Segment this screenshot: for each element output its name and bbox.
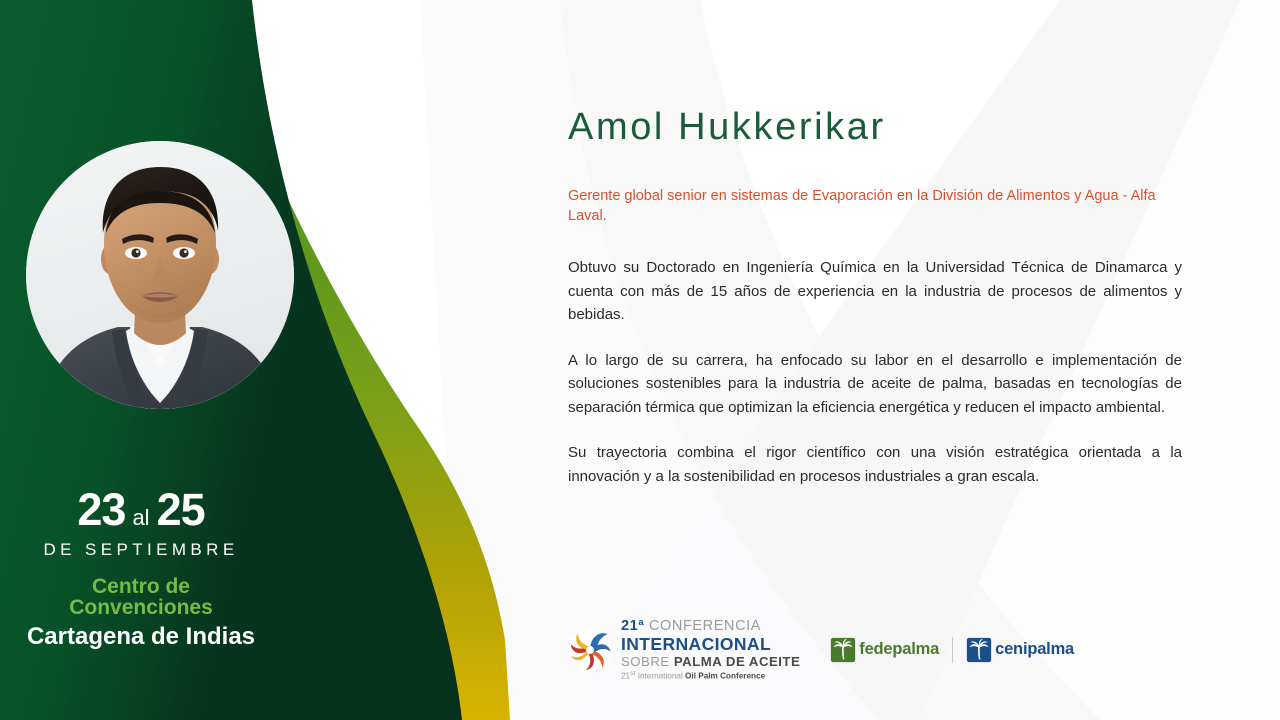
speaker-portrait [26,141,294,409]
palm-tree-icon [966,637,992,663]
speaker-slide: 23 al 25 DE SEPTIEMBRE Centro de Convenc… [0,0,1280,720]
event-venue-line2: Convenciones [0,597,282,618]
conference-line-1: 21ª CONFERENCIA [621,619,800,634]
partner-name: cenipalma [995,640,1074,659]
event-month: DE SEPTIEMBRE [0,540,282,560]
tagline-bold: Oil Palm Conference [685,672,765,681]
partner-fedepalma: fedepalma [830,637,939,663]
event-day-end: 25 [157,487,205,532]
conference-logo: 21ª CONFERENCIA INTERNACIONAL SOBRE PALM… [568,618,800,681]
conference-edition: 21ª [621,618,644,634]
partner-logos: fedepalma cenipalma [830,637,1074,663]
event-venue: Centro de Convenciones [0,576,282,619]
tagline-mid: International [635,672,685,681]
event-date-line: 23 al 25 [0,487,282,532]
tagline-number: 21 [621,672,630,681]
partner-cenipalma: cenipalma [966,637,1074,663]
pinwheel-swirl-icon [568,628,612,672]
speaker-bio: Obtuvo su Doctorado en Ingeniería Químic… [568,256,1182,488]
partner-name: fedepalma [859,640,939,659]
event-venue-line1: Centro de [0,576,282,597]
conference-line-3: SOBRE PALMA DE ACEITE [621,655,800,668]
speaker-role: Gerente global senior en sistemas de Eva… [568,186,1184,226]
conference-line3-bold: PALMA DE ACEITE [674,654,800,669]
bio-paragraph: Obtuvo su Doctorado en Ingeniería Químic… [568,256,1182,327]
event-day-start: 23 [77,487,125,532]
speaker-content: Amol Hukkerikar Gerente global senior en… [568,0,1208,720]
conference-tagline: 21st International Oil Palm Conference [621,671,800,681]
conference-logo-text: 21ª CONFERENCIA INTERNACIONAL SOBRE PALM… [621,618,800,681]
speaker-name: Amol Hukkerikar [568,106,886,149]
logo-divider [952,637,953,663]
bio-paragraph: Su trayectoria combina el rigor científi… [568,441,1182,488]
logo-bar: 21ª CONFERENCIA INTERNACIONAL SOBRE PALM… [568,618,1074,681]
bio-paragraph: A lo largo de su carrera, ha enfocado su… [568,349,1182,420]
conference-line-2: INTERNACIONAL [621,636,800,654]
event-date-venue-block: 23 al 25 DE SEPTIEMBRE Centro de Convenc… [0,487,282,651]
event-day-connector: al [132,507,149,529]
conference-line1-text: CONFERENCIA [649,618,761,634]
palm-tree-icon [830,637,856,663]
event-city: Cartagena de Indias [0,623,282,651]
conference-line3-light: SOBRE [621,654,670,669]
